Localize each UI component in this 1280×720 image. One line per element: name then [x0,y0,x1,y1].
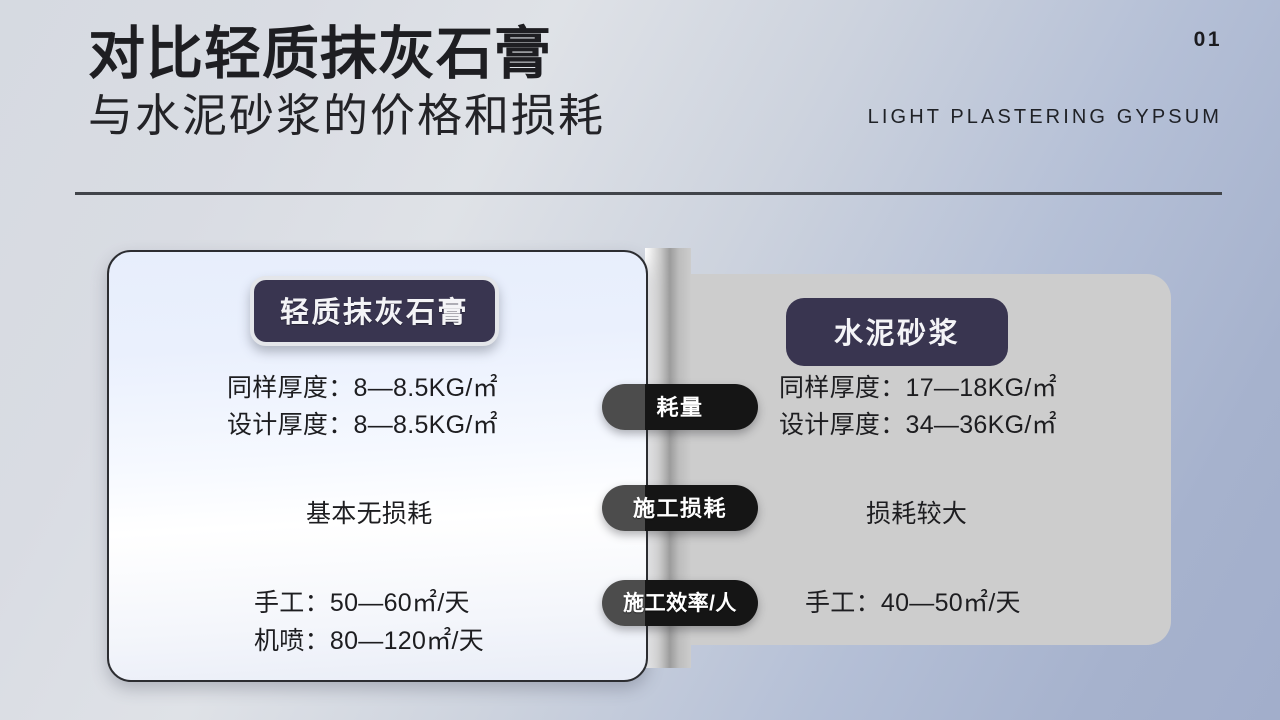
left-card-heading-label: 轻质抹灰石膏 [280,297,469,329]
slide-header: 对比轻质抹灰石膏 与水泥砂浆的价格和损耗 01 LIGHT PLASTERING… [0,0,1280,210]
right-consumption-row-1: 同样厚度：17—18KG/㎡ [779,368,1057,404]
right-card-heading-badge: 水泥砂浆 [786,298,1008,366]
page-title: 对比轻质抹灰石膏 与水泥砂浆的价格和损耗 [88,22,605,143]
right-waste-row: 损耗较大 [866,494,967,530]
category-pill-consumption: 耗量 [602,384,758,430]
left-efficiency-row-2: 机喷：80—120㎡/天 [254,621,484,657]
title-line-secondary: 与水泥砂浆的价格和损耗 [88,89,605,143]
left-consumption-row-2: 设计厚度：8—8.5KG/㎡ [227,405,498,441]
right-consumption-row-2: 设计厚度：34—36KG/㎡ [779,405,1057,441]
title-line-primary: 对比轻质抹灰石膏 [88,22,605,87]
slide-canvas: 对比轻质抹灰石膏 与水泥砂浆的价格和损耗 01 LIGHT PLASTERING… [0,0,1280,720]
subtitle-english: LIGHT PLASTERING GYPSUM [868,106,1222,129]
category-pill-waste-label: 施工损耗 [633,491,727,523]
left-waste-row: 基本无损耗 [306,494,433,530]
right-efficiency-row-1: 手工：40—50㎡/天 [805,583,1021,619]
page-number-badge: 01 [1194,28,1222,52]
header-divider [75,192,1222,195]
category-pill-waste: 施工损耗 [602,485,758,531]
category-pill-consumption-label: 耗量 [656,390,703,422]
category-pill-efficiency-label: 施工效率/人 [623,587,737,617]
left-card-heading-badge: 轻质抹灰石膏 [250,276,499,346]
left-consumption-row-1: 同样厚度：8—8.5KG/㎡ [227,368,498,404]
category-pill-efficiency: 施工效率/人 [602,580,758,626]
left-efficiency-row-1: 手工：50—60㎡/天 [254,583,470,619]
right-card-heading-label: 水泥砂浆 [834,318,960,350]
